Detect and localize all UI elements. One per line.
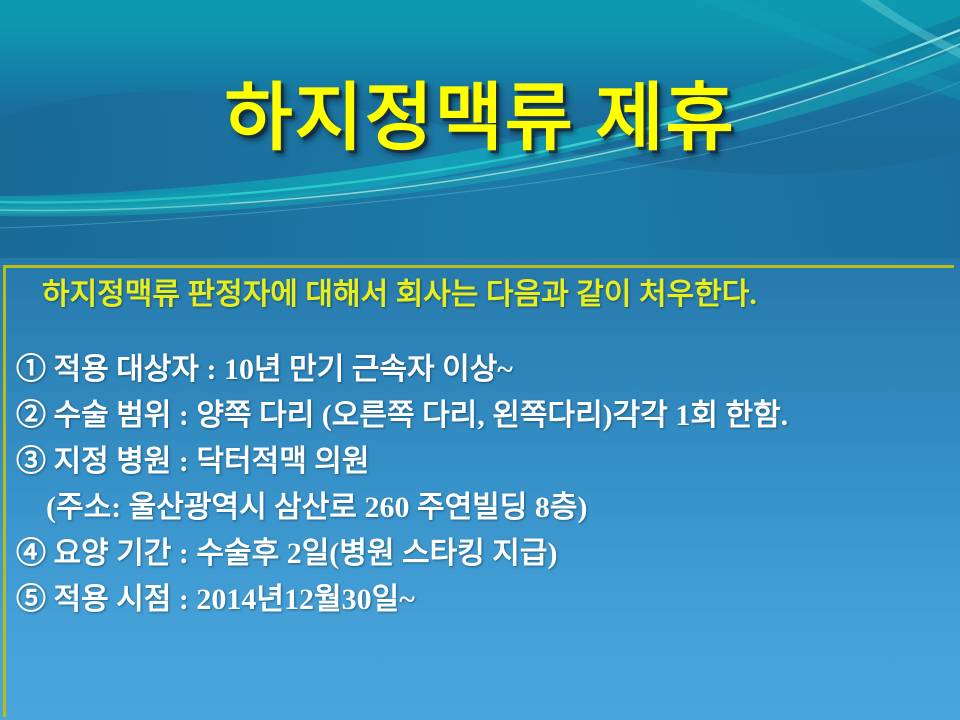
content-headline: 하지정맥류 판정자에 대해서 회사는 다음과 같이 처우한다. xyxy=(42,277,944,312)
list-item: ③ 지정 병원 : 닥터적맥 의원 xyxy=(16,442,944,482)
content-box: 하지정맥류 판정자에 대해서 회사는 다음과 같이 처우한다. ① 적용 대상자… xyxy=(3,265,954,717)
content-item-list: ① 적용 대상자 : 10년 만기 근속자 이상~ ② 수술 범위 : 양쪽 다… xyxy=(16,350,944,619)
list-item: (주소: 울산광역시 삼산로 260 주연빌딩 8층) xyxy=(46,488,944,528)
list-item: ① 적용 대상자 : 10년 만기 근속자 이상~ xyxy=(16,350,944,390)
list-item: ② 수술 범위 : 양쪽 다리 (오른쪽 다리, 왼쪽다리)각각 1회 한함. xyxy=(16,396,944,436)
list-item: ④ 요양 기간 : 수술후 2일(병원 스타킹 지급) xyxy=(16,534,944,574)
presentation-slide: 하지정맥류 제휴 하지정맥류 판정자에 대해서 회사는 다음과 같이 처우한다.… xyxy=(0,0,960,720)
slide-title: 하지정맥류 제휴 xyxy=(0,82,960,156)
list-item: ⑤ 적용 시점 : 2014년12월30일~ xyxy=(16,580,944,620)
